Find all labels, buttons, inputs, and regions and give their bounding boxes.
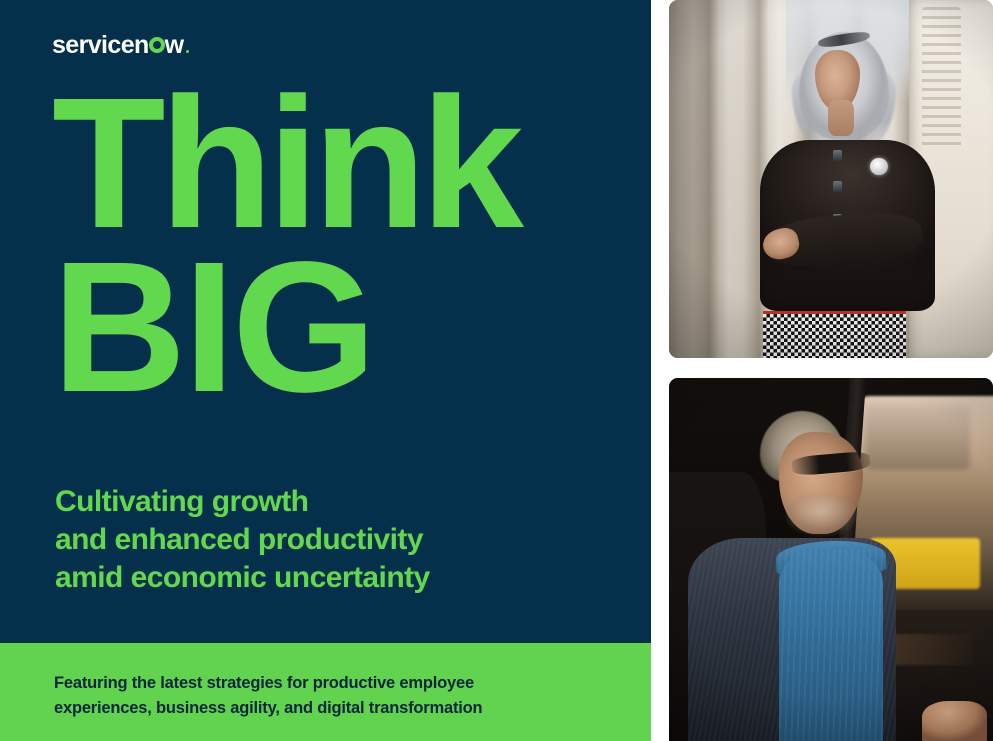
cover-left-panel: servicen w Think BIG Cultivating growth …	[0, 0, 651, 741]
photo-man-in-car	[669, 378, 993, 741]
cover-headline: Think BIG	[52, 82, 518, 409]
banner-line-2: experiences, business agility, and digit…	[54, 696, 482, 721]
ebook-cover-page: servicen w Think BIG Cultivating growth …	[0, 0, 993, 741]
servicenow-logo[interactable]: servicen w	[52, 33, 189, 58]
cover-right-image-column	[669, 0, 993, 741]
photo-executive-woman	[669, 0, 993, 358]
o-ring-icon	[149, 37, 165, 53]
cover-subtitle: Cultivating growth and enhanced producti…	[55, 483, 430, 597]
man-blue-shirt	[779, 549, 883, 741]
man-beard	[786, 494, 857, 538]
houndstooth-skirt	[763, 311, 906, 358]
subtitle-line-3: amid economic uncertainty	[55, 559, 430, 597]
logo-text-before: servicen	[52, 33, 149, 58]
banner-line-1: Featuring the latest strategies for prod…	[54, 671, 482, 696]
logo-text-after: w	[165, 33, 184, 58]
subtitle-line-1: Cultivating growth	[55, 483, 430, 521]
trademark-dot-icon	[186, 50, 190, 54]
man-hand	[922, 701, 987, 741]
cover-banner-text: Featuring the latest strategies for prod…	[54, 671, 482, 721]
headline-line-2: BIG	[52, 246, 518, 410]
subtitle-line-2: and enhanced productivity	[55, 521, 430, 559]
woman-neck	[828, 100, 854, 136]
